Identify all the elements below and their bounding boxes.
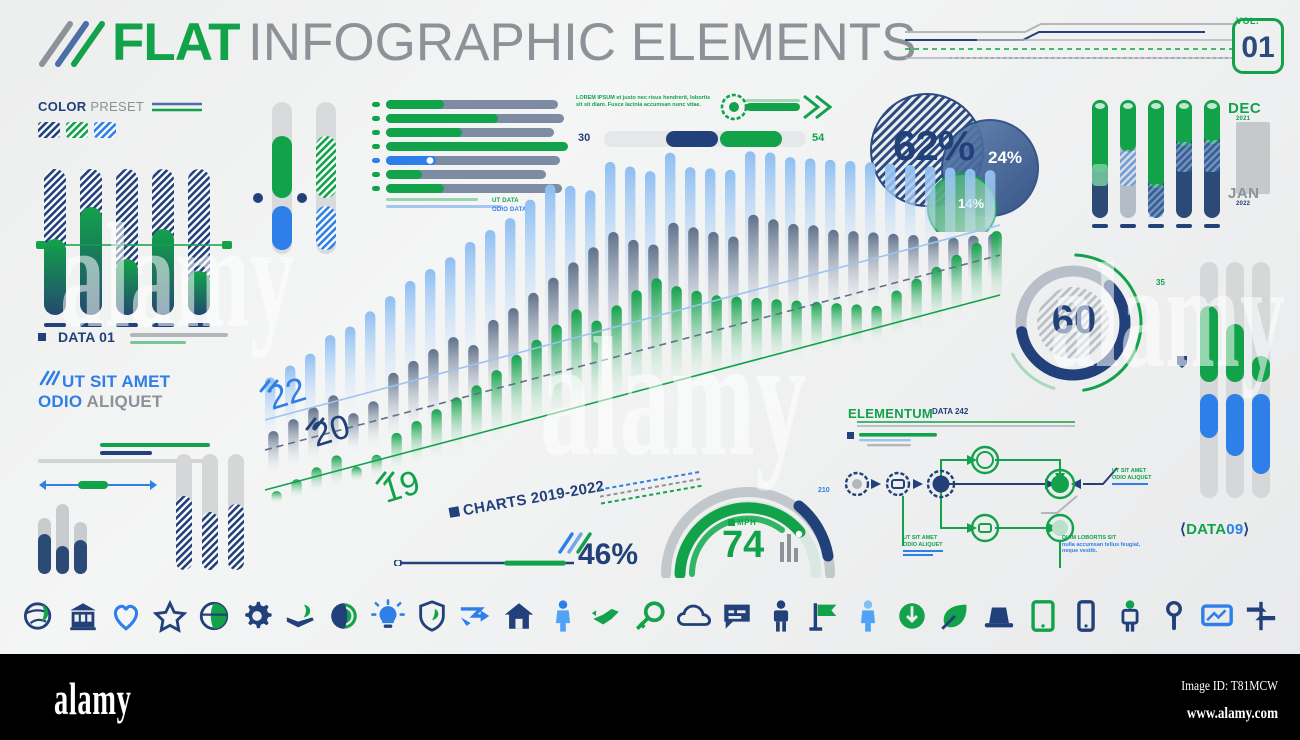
phone-icon[interactable] (1069, 599, 1103, 633)
chart-bar (311, 467, 321, 493)
globe-arrow-icon[interactable] (197, 599, 231, 633)
leaf-icon[interactable] (938, 599, 972, 633)
chart-bar (368, 401, 378, 451)
chart-bar (751, 298, 761, 377)
color-preset-rules (152, 101, 202, 117)
heart-icon[interactable] (109, 599, 143, 633)
progress-bar[interactable] (394, 560, 574, 566)
flow-note-a-rule2 (903, 554, 933, 557)
flow-note-b: UT SIT AMET ODIO ALIQUET (1112, 468, 1152, 485)
chart-bar (531, 340, 541, 436)
header-line-decoration (905, 22, 1235, 70)
shield-leaf-icon[interactable] (415, 599, 449, 633)
chart-bar (911, 279, 921, 335)
right-bar-group (1196, 262, 1276, 502)
speedometer-value: 74 (722, 524, 764, 567)
header: FLAT INFOGRAPHIC ELEMENTS VOL. 01 (0, 0, 1300, 90)
person-male-icon[interactable] (764, 599, 798, 633)
chart-bar (491, 370, 501, 446)
chart-bar (731, 297, 741, 383)
chart-bar (711, 295, 721, 387)
monitor-icon[interactable] (1200, 599, 1234, 633)
page-title: INFOGRAPHIC ELEMENTS (248, 14, 916, 72)
month-end-sub: 2022 (1236, 201, 1250, 207)
chart-bar (411, 421, 421, 467)
chart-bar (871, 306, 881, 346)
person-standing-icon[interactable] (1113, 599, 1147, 633)
flag-icon[interactable] (808, 599, 842, 633)
data09-label: ⟨DATA09⟩ (1180, 520, 1249, 538)
flow-note-b-rule (1112, 483, 1148, 486)
chart-bar (851, 304, 861, 350)
flow-note-a-rule (903, 550, 943, 553)
data09-label-b: 09 (1226, 521, 1243, 538)
chart-bar (951, 255, 961, 324)
slider-note-decoration (720, 92, 832, 122)
text-block-slash-icon (38, 370, 60, 386)
chat-bubble-icon[interactable] (720, 599, 754, 633)
slash-decoration-icon (36, 18, 108, 70)
image-id-text: Image ID: T81MCW (1147, 679, 1278, 695)
text-block-heading-1: UT SIT AMET (62, 372, 170, 392)
alamy-logo: alamy (54, 672, 132, 725)
donut-value: 60 (1034, 298, 1114, 343)
text-block-range-slider[interactable] (38, 478, 158, 492)
chart-bar (511, 355, 521, 441)
slider-note-text: LOREM IPSUM et justo nec risus hendrerit… (576, 95, 716, 109)
chart-bar (591, 321, 601, 420)
chart-bar (351, 467, 361, 484)
clock-globe-icon[interactable] (327, 599, 361, 633)
flow-diagram (845, 418, 1130, 583)
chart-bar (831, 303, 841, 356)
donut-tick-label: 35 (1156, 278, 1165, 287)
person-female-blue-icon[interactable] (851, 599, 885, 633)
chart-bar (868, 232, 878, 318)
chart-bar (811, 302, 821, 361)
flow-note-a: UT SIT AMET ODIO ALIQUET (903, 535, 943, 556)
color-preset-title-light: PRESET (86, 99, 144, 114)
footer-bar (0, 654, 1300, 740)
axis-label-slashes-icon (258, 378, 282, 394)
flow-subtitle: DATA 242 (932, 407, 968, 416)
icon-row (0, 588, 1300, 644)
chart-title-bullet-icon (449, 506, 461, 518)
left-bar-chart (36, 165, 236, 335)
globe-check-icon[interactable] (895, 599, 929, 633)
speedometer-mini-bars (778, 530, 800, 562)
bank-building-icon[interactable] (66, 599, 100, 633)
flow-note-a-title: UT SIT AMET (903, 535, 943, 542)
hand-leaf-icon[interactable] (284, 599, 318, 633)
key-icon[interactable] (633, 599, 667, 633)
axis-label-slashes-icon-3 (374, 470, 398, 486)
chart-bar (891, 291, 901, 341)
chart-bar (771, 299, 781, 372)
page-title-accent: FLAT (112, 14, 239, 72)
color-preset-title-bold: COLOR (38, 99, 86, 114)
chart-bar (451, 397, 461, 456)
laptop-icon[interactable] (982, 599, 1016, 633)
data09-bracket-right-icon: ⟩ (1243, 521, 1249, 538)
flow-note-a-sub: ODIO ALIQUET (903, 542, 943, 549)
left-small-bars-a (36, 500, 156, 575)
chart-bar (991, 231, 1001, 314)
volume-number: 01 (1236, 30, 1280, 66)
hand-thumb-icon[interactable] (589, 599, 623, 633)
text-block-heading-2: ODIO ALIQUET (38, 392, 163, 412)
volume-label: VOL. (1236, 16, 1259, 26)
chart-bar (271, 491, 281, 504)
right-bar-marker-icon (1176, 355, 1188, 369)
chart-bar (971, 243, 981, 319)
globe-leaf-icon[interactable] (22, 599, 56, 633)
text-block-heading-2-bold: ODIO (38, 392, 82, 411)
cloud-icon[interactable] (677, 599, 711, 633)
axis-label-slashes-icon-2 (304, 416, 328, 432)
month-start-sub: 2021 (1236, 116, 1250, 122)
map-pin-icon[interactable] (1157, 599, 1191, 633)
tablet-icon[interactable] (1026, 599, 1060, 633)
arrow-curve-icon[interactable] (458, 599, 492, 633)
data01-label: DATA 01 (58, 329, 115, 345)
chart-bar (471, 385, 481, 451)
flow-note-c: DIAM LOBORTIS SIT nulla accumsan tellus … (1062, 535, 1140, 555)
chart-bar (288, 419, 298, 472)
data09-label-a: DATA (1186, 521, 1226, 538)
gear-icon[interactable] (240, 599, 274, 633)
home-icon[interactable] (502, 599, 536, 633)
lightbulb-icon[interactable] (371, 599, 405, 633)
chart-bar (931, 267, 941, 330)
month-start-label: DEC (1228, 100, 1261, 117)
color-preset-swatches[interactable] (38, 122, 138, 140)
alamy-url-text: www.alamy.com (1147, 705, 1278, 723)
star-icon[interactable] (153, 599, 187, 633)
flow-note-c-sub: nulla accumsan tellus feugiat, neque ves… (1062, 542, 1140, 555)
text-block-heading-2-light: ALIQUET (82, 392, 162, 411)
signpost-icon[interactable] (1244, 599, 1278, 633)
flow-note-b-sub: ODIO ALIQUET (1112, 475, 1152, 482)
chart-bar (431, 409, 441, 462)
speedometer-max-tag: 210 (818, 487, 830, 494)
color-preset-title: COLOR PRESET (38, 99, 144, 114)
month-end-label: JAN (1228, 185, 1260, 202)
chart-bar (268, 431, 278, 477)
person-female-icon[interactable] (546, 599, 580, 633)
progress-value: 46% (578, 538, 638, 572)
infographic-canvas: FLAT INFOGRAPHIC ELEMENTS VOL. 01 COLOR … (0, 0, 1300, 654)
flow-note-b-title: UT SIT AMET (1112, 468, 1152, 475)
